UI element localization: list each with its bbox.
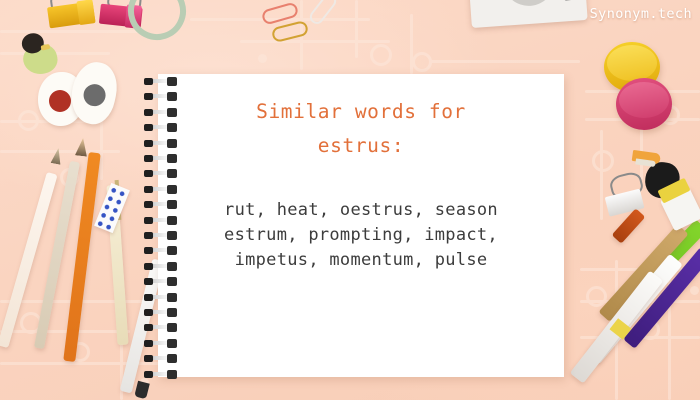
notepad-spiral-binding xyxy=(146,74,180,377)
spiral-ring xyxy=(146,340,176,347)
brand-logo: Synonym.tech xyxy=(590,6,692,22)
spiral-ring xyxy=(146,217,176,224)
spiral-ring xyxy=(146,93,176,100)
spiral-ring xyxy=(146,309,176,316)
spiral-ring xyxy=(146,371,176,378)
spiral-ring xyxy=(146,170,176,177)
spiral-ring xyxy=(146,324,176,331)
synonym-line-3: impetus, momentum, pulse xyxy=(158,252,564,269)
spiral-ring xyxy=(146,247,176,254)
spiral-ring xyxy=(146,232,176,239)
macaron-pink xyxy=(616,78,672,130)
screenshot-stage: Similar words for estrus: rut, heat, oes… xyxy=(0,0,700,400)
page-title-line1: Similar words for xyxy=(158,102,564,122)
spiral-ring xyxy=(146,263,176,270)
spiral-ring xyxy=(146,124,176,131)
spiral-ring xyxy=(146,109,176,116)
notepad-paper: Similar words for estrus: rut, heat, oes… xyxy=(158,74,564,377)
spiral-ring xyxy=(146,186,176,193)
spiral-ring xyxy=(146,278,176,285)
spiral-ring xyxy=(146,294,176,301)
spiral-ring xyxy=(146,78,176,85)
spiral-ring xyxy=(146,155,176,162)
page-title-word: estrus: xyxy=(158,136,564,156)
spiral-ring xyxy=(146,140,176,147)
bird-figurine xyxy=(16,28,64,77)
spiral-ring xyxy=(146,355,176,362)
synonym-line-1: rut, heat, oestrus, season xyxy=(158,202,564,219)
spiral-ring xyxy=(146,201,176,208)
synonym-line-2: estrum, prompting, impact, xyxy=(158,227,564,244)
